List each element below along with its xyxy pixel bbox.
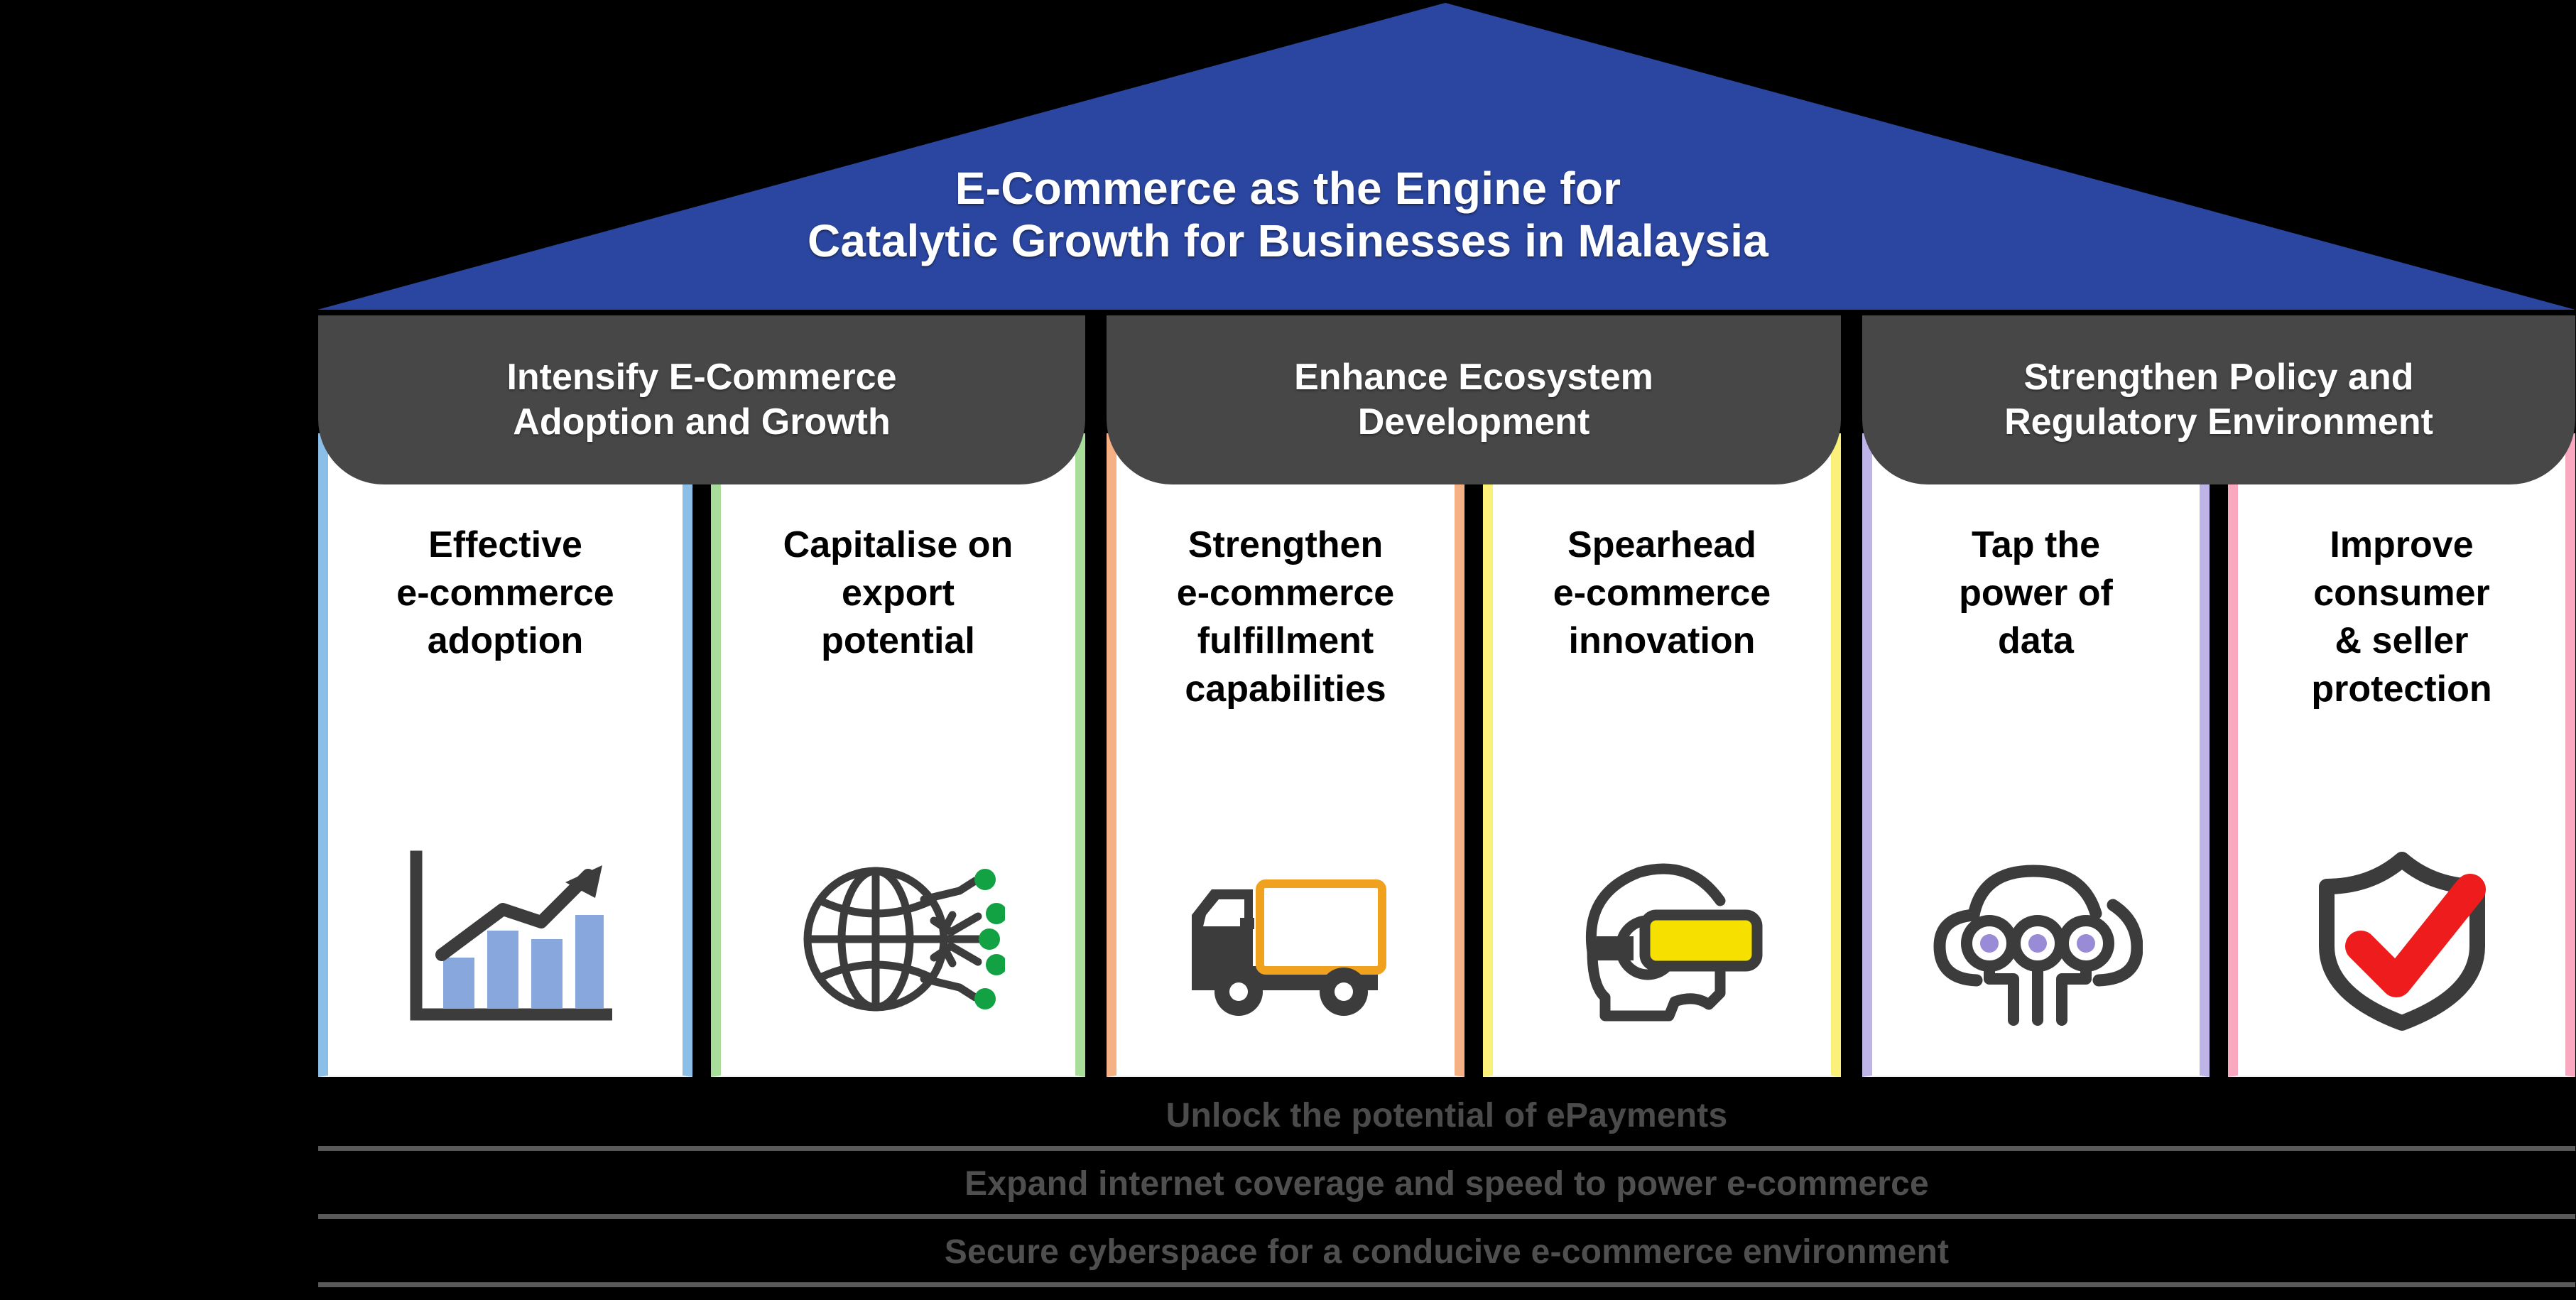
shield-check-icon xyxy=(2295,847,2509,1031)
group-header-ecosystem: Enhance Ecosystem Development xyxy=(1107,315,1841,484)
growth-bar-chart-icon xyxy=(399,847,612,1031)
cloud-data-icon xyxy=(1930,847,2143,1031)
ecommerce-strategy-infographic: E-Commerce as the Engine for Catalytic G… xyxy=(0,0,2576,1300)
card-title: Strengthen e-commerce fulfillment capabi… xyxy=(1170,521,1401,713)
group-header-policy: Strengthen Policy and Regulatory Environ… xyxy=(1862,315,2575,484)
card-title: Spearhead e-commerce innovation xyxy=(1546,521,1778,666)
vr-headset-icon xyxy=(1555,847,1768,1031)
foundation-bar-epayments: Unlock the potential of ePayments xyxy=(318,1083,2575,1151)
card-title: Effective e-commerce adoption xyxy=(389,521,621,666)
card-capitalise-export-potential[interactable]: Capitalise on export potential xyxy=(711,433,1085,1077)
group-cards-ecosystem: Strengthen e-commerce fulfillment capabi… xyxy=(1107,433,1841,1077)
delivery-truck-icon xyxy=(1179,847,1392,1031)
roof-pediment: E-Commerce as the Engine for Catalytic G… xyxy=(0,0,2576,313)
pillar-group-policy: Strengthen Policy and Regulatory Environ… xyxy=(1862,315,2575,1077)
card-spearhead-innovation[interactable]: Spearhead e-commerce innovation xyxy=(1483,433,1841,1077)
foundation-bar-label: Expand internet coverage and speed to po… xyxy=(964,1164,1929,1203)
group-cards-policy: Tap the power of data xyxy=(1862,433,2575,1077)
pillar-group-ecosystem: Enhance Ecosystem Development Strengthen… xyxy=(1107,315,1841,1077)
foundation-bar-label: Secure cyberspace for a conducive e-comm… xyxy=(945,1233,1949,1272)
foundation-bar-cyberspace-security: Secure cyberspace for a conducive e-comm… xyxy=(318,1219,2575,1287)
roof-title: E-Commerce as the Engine for Catalytic G… xyxy=(0,162,2576,267)
card-title: Improve consumer & seller protection xyxy=(2304,521,2499,713)
card-title: Tap the power of data xyxy=(1952,521,2120,666)
pillar-groups: Intensify E-Commerce Adoption and Growth… xyxy=(318,315,2575,1077)
globe-network-icon xyxy=(792,847,1005,1031)
card-strengthen-fulfillment[interactable]: Strengthen e-commerce fulfillment capabi… xyxy=(1107,433,1464,1077)
foundation-bars: Unlock the potential of ePayments Expand… xyxy=(318,1083,2575,1300)
card-tap-power-of-data[interactable]: Tap the power of data xyxy=(1862,433,2210,1077)
card-effective-ecommerce-adoption[interactable]: Effective e-commerce adoption xyxy=(318,433,692,1077)
group-cards-intensify: Effective e-commerce adoption xyxy=(318,433,1085,1077)
foundation-bar-internet-coverage: Expand internet coverage and speed to po… xyxy=(318,1151,2575,1219)
card-title: Capitalise on export potential xyxy=(776,521,1021,666)
card-improve-consumer-seller-protection[interactable]: Improve consumer & seller protection xyxy=(2228,433,2575,1077)
pillar-group-intensify: Intensify E-Commerce Adoption and Growth… xyxy=(318,315,1085,1077)
foundation-bar-label: Unlock the potential of ePayments xyxy=(1166,1096,1728,1135)
group-header-intensify: Intensify E-Commerce Adoption and Growth xyxy=(318,315,1085,484)
